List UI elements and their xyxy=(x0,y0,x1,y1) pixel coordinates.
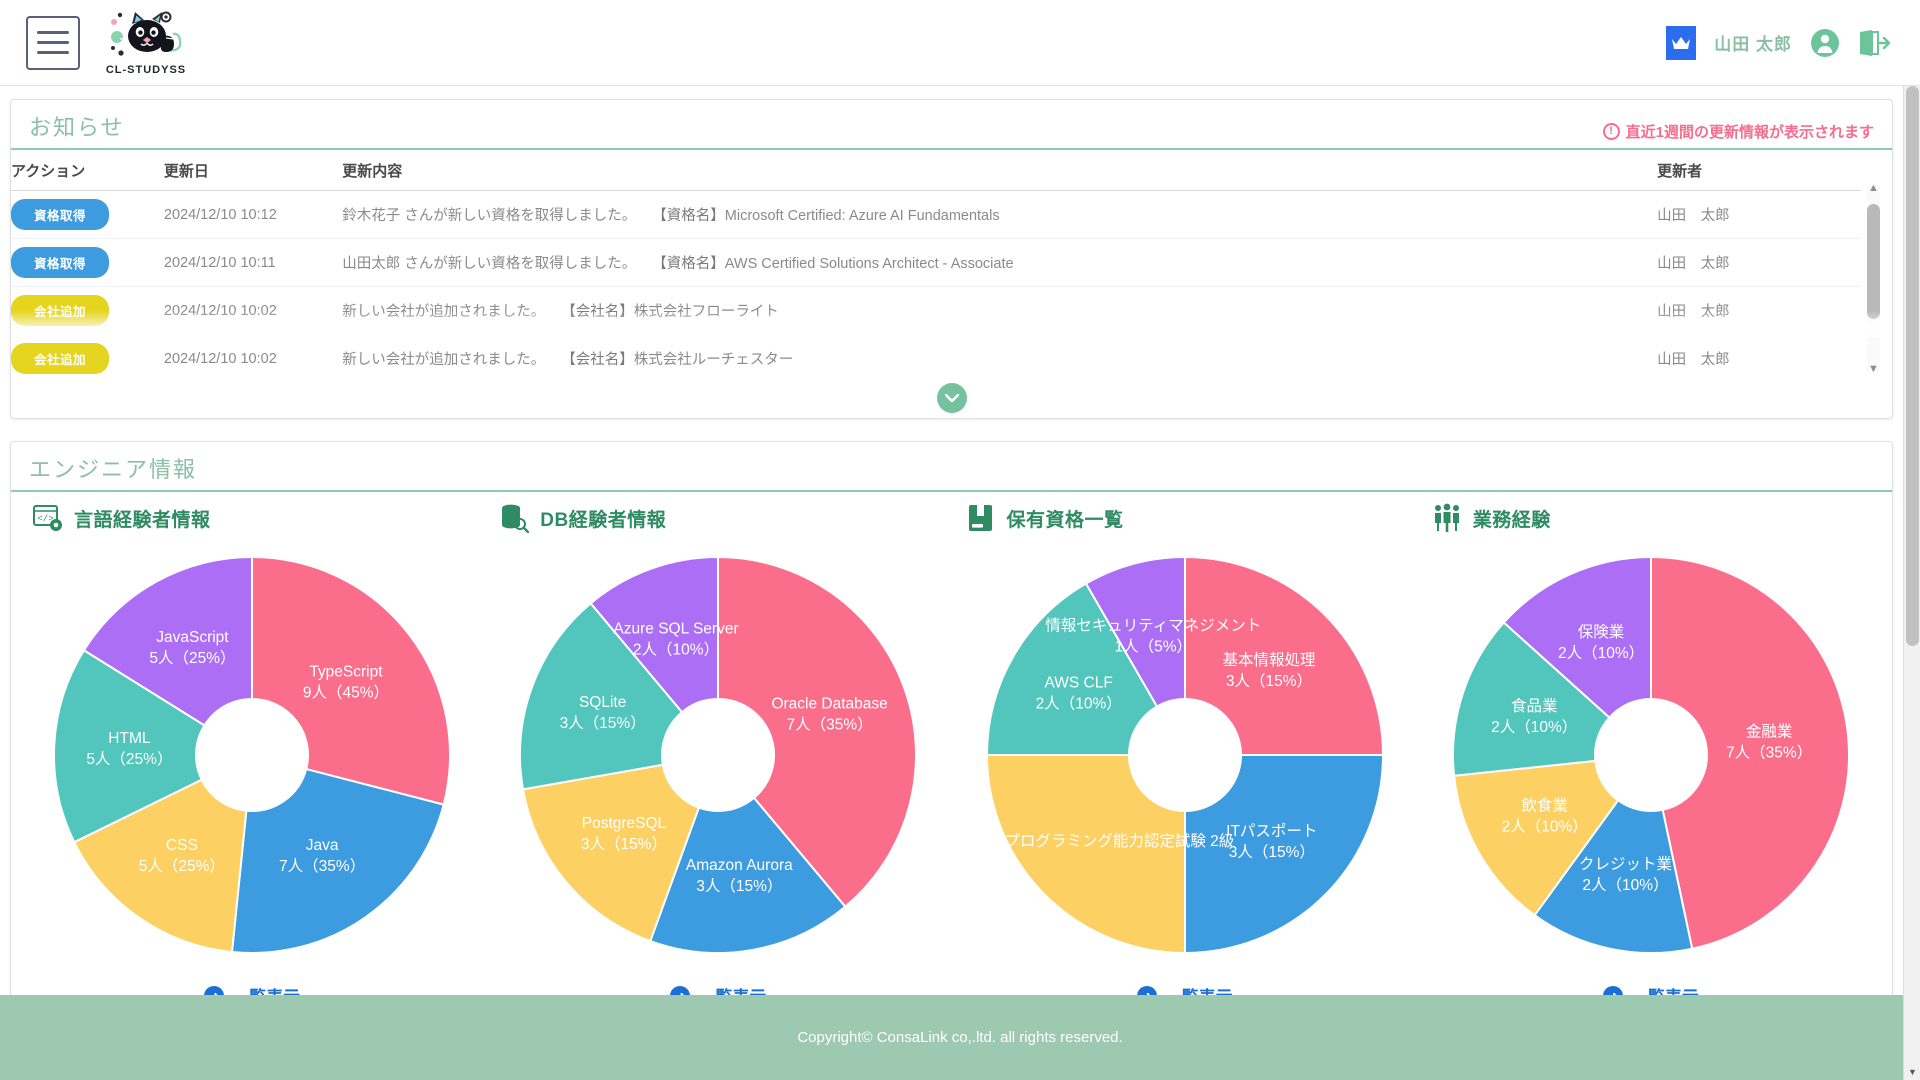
pie-slice[interactable] xyxy=(252,557,450,805)
people-icon xyxy=(1432,503,1462,533)
app-footer: Copyright© ConsaLink co,.ltd. all rights… xyxy=(0,995,1920,1080)
col-content: 更新内容 xyxy=(342,150,1657,191)
content-detail-label: 【資格名】 xyxy=(652,256,725,272)
person-circle-icon xyxy=(1810,28,1840,58)
pie-slice-label: PostgreSQL xyxy=(582,815,667,832)
donut-chart: TypeScript9人（45%）Java7人（35%）CSS5人（25%）HT… xyxy=(32,537,472,987)
logout-button[interactable] xyxy=(1858,29,1890,57)
database-search-icon xyxy=(499,503,529,533)
pie-slice-label: 2人（10%） xyxy=(1582,876,1668,894)
col-date: 更新日 xyxy=(164,150,342,191)
cell-date: 2024/12/10 10:02 xyxy=(164,287,342,335)
pie-slice-label: TypeScript xyxy=(309,663,383,680)
chart-column-2: DB経験者情報 Oracle Database7人（35%）Amazon Aur… xyxy=(485,500,951,1067)
pie-slice-label: 食品業 xyxy=(1511,697,1558,715)
notice-scroll-thumb[interactable] xyxy=(1867,204,1880,319)
pie-slice[interactable] xyxy=(987,755,1185,953)
donut-chart: 金融業7人（35%）クレジット業2人（10%）飲食業2人（10%）食品業2人（1… xyxy=(1431,537,1871,987)
chart-header: </> 言語経験者情報 xyxy=(19,503,485,533)
content-detail-label: 【資格名】 xyxy=(652,208,725,224)
donut-chart-container[interactable]: Oracle Database7人（35%）Amazon Aurora3人（15… xyxy=(498,537,938,987)
pie-slice-label: 2人（10%） xyxy=(1558,644,1644,662)
pie-slice-label: 3人（15%） xyxy=(560,714,646,732)
notice-hint: ! 直近1週間の更新情報が表示されます xyxy=(1603,121,1874,142)
pie-slice-label: クレジット業 xyxy=(1579,855,1672,873)
cell-content: 鈴木花子 さんが新しい資格を取得しました。【資格名】Microsoft Cert… xyxy=(342,191,1657,239)
engineer-card: エンジニア情報 </> 言語経験者情報 TypeScript9人（45%）Jav… xyxy=(10,441,1893,1066)
chart-column-1: </> 言語経験者情報 TypeScript9人（45%）Java7人（35%）… xyxy=(19,500,485,1067)
scroll-up-arrow-icon[interactable]: ▲ xyxy=(1868,182,1879,194)
cell-updater: 山田 太郎 xyxy=(1657,191,1861,239)
chart-header: DB経験者情報 xyxy=(485,503,951,533)
page-scroll-down-icon[interactable]: ▼ xyxy=(1904,1063,1920,1080)
content-detail-label: 【会社名】 xyxy=(561,304,634,320)
copyright-text: Copyright© ConsaLink co,.ltd. all rights… xyxy=(797,1029,1122,1046)
chevron-down-icon xyxy=(945,394,959,403)
content-message: 山田太郎 さんが新しい資格を取得しました。 xyxy=(342,256,636,272)
donut-chart: Oracle Database7人（35%）Amazon Aurora3人（15… xyxy=(498,537,938,987)
exclamation-icon: ! xyxy=(1603,123,1620,140)
pie-slice-label: 3人（15%） xyxy=(581,835,667,853)
cell-date: 2024/12/10 10:12 xyxy=(164,191,342,239)
expand-more-button[interactable] xyxy=(937,383,967,413)
brand-name: CL-STUDYSS xyxy=(106,64,186,76)
hamburger-bar xyxy=(37,31,69,34)
notice-header-row: アクション 更新日 更新内容 更新者 xyxy=(11,150,1861,191)
pie-slice-label: AWS CLF xyxy=(1044,675,1112,692)
pie-slice-label: 7人（35%） xyxy=(787,715,873,733)
content-detail-value: AWS Certified Solutions Architect - Asso… xyxy=(725,256,1014,272)
content-message: 鈴木花子 さんが新しい資格を取得しました。 xyxy=(342,208,636,224)
crown-icon xyxy=(1671,35,1691,51)
pie-slice-label: 7人（35%） xyxy=(279,857,365,875)
pie-slice-label: 5人（25%） xyxy=(86,750,172,768)
hamburger-bar xyxy=(37,51,69,54)
cell-action: 資格取得 xyxy=(11,239,164,287)
pie-slice-label: SQLite xyxy=(579,694,626,711)
chart-title: 保有資格一覧 xyxy=(1007,505,1124,532)
donut-chart-container[interactable]: 基本情報処理3人（15%）ITパスポート3人（15%）C言語プログラミング能力認… xyxy=(965,537,1405,987)
cell-updater: 山田 太郎 xyxy=(1657,239,1861,287)
page-body: お知らせ ! 直近1週間の更新情報が表示されます アクション 更新日 更新内容 … xyxy=(0,86,1920,1080)
col-updater: 更新者 xyxy=(1657,150,1861,191)
chart-column-4: 業務経験 金融業7人（35%）クレジット業2人（10%）飲食業2人（10%）食品… xyxy=(1418,500,1884,1067)
cell-action: 会社追加 xyxy=(11,335,164,376)
content-message: 新しい会社が追加されました。 xyxy=(342,304,545,320)
notice-expand-row xyxy=(11,383,1892,413)
notice-table-body: 資格取得2024/12/10 10:12鈴木花子 さんが新しい資格を取得しました… xyxy=(11,191,1861,376)
cell-content: 新しい会社が追加されました。【会社名】株式会社フローライト xyxy=(342,287,1657,335)
pie-slice-label: 5人（25%） xyxy=(139,857,225,875)
content-detail-value: 株式会社ルーチェスター xyxy=(634,352,794,368)
table-row[interactable]: 資格取得2024/12/10 10:11山田太郎 さんが新しい資格を取得しました… xyxy=(11,239,1861,287)
notice-table-scroll-area[interactable]: アクション 更新日 更新内容 更新者 資格取得2024/12/10 10:12鈴… xyxy=(11,150,1892,375)
pie-slice-label: JavaScript xyxy=(156,629,229,646)
cell-date: 2024/12/10 10:11 xyxy=(164,239,342,287)
pie-slice-label: 3人（15%） xyxy=(1228,843,1314,861)
pie-slice-label: Amazon Aurora xyxy=(686,857,793,874)
pie-slice-label: 情報セキュリティマネジメント xyxy=(1045,617,1261,635)
cell-content: 新しい会社が追加されました。【会社名】株式会社ルーチェスター xyxy=(342,335,1657,376)
status-badge[interactable]: 会社追加 xyxy=(11,295,109,326)
donut-chart-container[interactable]: 金融業7人（35%）クレジット業2人（10%）飲食業2人（10%）食品業2人（1… xyxy=(1431,537,1871,987)
brand-logo[interactable]: CL-STUDYSS xyxy=(98,10,194,76)
engineer-card-header: エンジニア情報 xyxy=(11,442,1892,492)
notice-hint-text: 直近1週間の更新情報が表示されます xyxy=(1626,121,1874,142)
pie-slice-label: C言語プログラミング能力認定試験 2級 xyxy=(965,832,1234,850)
pie-slice-label: 2人（10%） xyxy=(633,641,719,659)
cell-updater: 山田 太郎 xyxy=(1657,335,1861,376)
pie-slice-label: 5人（25%） xyxy=(149,649,235,667)
cell-action: 会社追加 xyxy=(11,287,164,335)
cat-logo-icon xyxy=(104,10,188,66)
chart-title: 業務経験 xyxy=(1473,505,1551,532)
content-detail-value: 株式会社フローライト xyxy=(634,304,779,320)
content-detail-value: Microsoft Certified: Azure AI Fundamenta… xyxy=(725,208,1000,224)
pie-slice-label: 9人（45%） xyxy=(303,683,389,701)
chart-title: 言語経験者情報 xyxy=(74,505,211,532)
chart-header: 業務経験 xyxy=(1418,503,1884,533)
header-right-group: 山田 太郎 xyxy=(1666,26,1890,60)
engineer-charts-row: </> 言語経験者情報 TypeScript9人（45%）Java7人（35%）… xyxy=(11,492,1892,1067)
page-scrollbar[interactable]: ▲ ▼ xyxy=(1903,86,1920,1080)
code-gear-icon: </> xyxy=(33,503,63,533)
scroll-down-arrow-icon[interactable]: ▼ xyxy=(1868,363,1879,375)
pie-slice-label: 1人（5%） xyxy=(1114,638,1192,656)
donut-chart-container[interactable]: TypeScript9人（45%）Java7人（35%）CSS5人（25%）HT… xyxy=(32,537,472,987)
crown-rank-badge xyxy=(1666,26,1696,60)
content-detail-label: 【会社名】 xyxy=(561,352,634,368)
hamburger-bar xyxy=(37,41,69,44)
status-badge[interactable]: 資格取得 xyxy=(11,247,109,278)
notice-table-scrollbar[interactable]: ▲ ▼ xyxy=(1867,186,1880,371)
table-row[interactable]: 会社追加2024/12/10 10:02新しい会社が追加されました。【会社名】株… xyxy=(11,287,1861,335)
chart-column-3: 保有資格一覧 基本情報処理3人（15%）ITパスポート3人（15%）C言語プログ… xyxy=(952,500,1418,1067)
donut-chart: 基本情報処理3人（15%）ITパスポート3人（15%）C言語プログラミング能力認… xyxy=(965,537,1405,987)
pie-slice-label: ITパスポート xyxy=(1226,822,1317,840)
cell-action: 資格取得 xyxy=(11,191,164,239)
pie-slice-label: 保険業 xyxy=(1578,623,1625,641)
notice-table: アクション 更新日 更新内容 更新者 資格取得2024/12/10 10:12鈴… xyxy=(11,150,1861,375)
pie-slice-label: 基本情報処理 xyxy=(1222,651,1315,669)
pie-slice-label: CSS xyxy=(166,837,198,854)
pie-slice-label: 金融業 xyxy=(1746,723,1793,741)
notice-card-header: お知らせ ! 直近1週間の更新情報が表示されます xyxy=(11,100,1892,150)
pie-slice-label: 2人（10%） xyxy=(1491,718,1577,736)
pie-slice-label: 飲食業 xyxy=(1521,796,1568,814)
status-badge[interactable]: 資格取得 xyxy=(11,199,109,230)
chart-title: DB経験者情報 xyxy=(540,505,666,532)
cell-date: 2024/12/10 10:02 xyxy=(164,335,342,376)
engineer-title: エンジニア情報 xyxy=(29,452,197,484)
cell-content: 山田太郎 さんが新しい資格を取得しました。【資格名】AWS Certified … xyxy=(342,239,1657,287)
pie-slice-label: 3人（15%） xyxy=(1226,672,1312,690)
pie-slice-label: Oracle Database xyxy=(772,695,888,712)
chart-header: 保有資格一覧 xyxy=(952,503,1418,533)
content-message: 新しい会社が追加されました。 xyxy=(342,352,545,368)
notice-table-head: アクション 更新日 更新内容 更新者 xyxy=(11,150,1861,191)
pie-slice-label: 2人（10%） xyxy=(1035,695,1121,713)
col-action: アクション xyxy=(11,150,164,191)
user-profile-icon[interactable] xyxy=(1810,28,1840,58)
pie-slice-label: Azure SQL Server xyxy=(614,621,739,638)
pie-slice-label: 7人（35%） xyxy=(1726,744,1812,762)
page-scroll-thumb[interactable] xyxy=(1906,86,1919,646)
status-badge[interactable]: 会社追加 xyxy=(11,343,109,374)
hamburger-menu-icon[interactable] xyxy=(26,16,80,70)
logout-icon xyxy=(1858,29,1890,57)
notice-card: お知らせ ! 直近1週間の更新情報が表示されます アクション 更新日 更新内容 … xyxy=(10,99,1893,419)
book-icon xyxy=(966,503,996,533)
table-row[interactable]: 会社追加2024/12/10 10:02新しい会社が追加されました。【会社名】株… xyxy=(11,335,1861,376)
pie-slice-label: 2人（10%） xyxy=(1501,817,1587,835)
app-header: CL-STUDYSS 山田 太郎 xyxy=(0,0,1920,86)
cell-updater: 山田 太郎 xyxy=(1657,287,1861,335)
pie-slice-label: Java xyxy=(306,837,339,854)
user-name-label: 山田 太郎 xyxy=(1714,30,1792,55)
table-row[interactable]: 資格取得2024/12/10 10:12鈴木花子 さんが新しい資格を取得しました… xyxy=(11,191,1861,239)
notice-title: お知らせ xyxy=(29,110,125,142)
pie-slice-label: 3人（15%） xyxy=(697,877,783,895)
pie-slice-label: HTML xyxy=(108,730,151,747)
